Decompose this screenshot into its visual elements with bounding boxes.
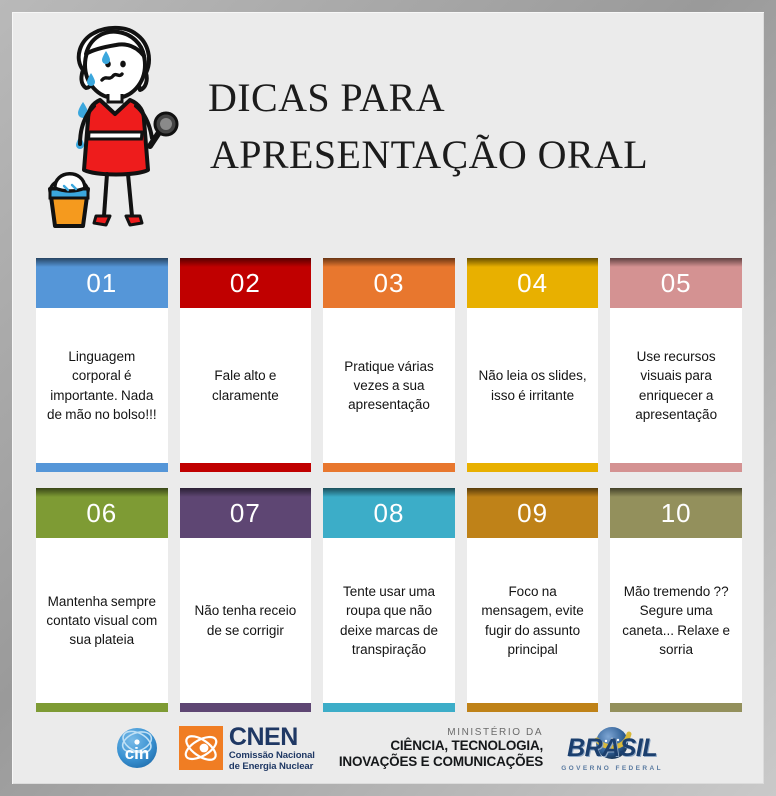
tip-text-07: Não tenha receio de se corrigir [187,601,305,639]
tip-number-03: 03 [323,258,455,308]
tip-accent-bar-07 [180,703,312,712]
footer-logos: cin CNEN Comissão Nacional de Energia Nu… [12,716,764,780]
tip-accent-bar-10 [610,703,742,712]
tip-card-09[interactable]: 09 Foco na mensagem, evite fugir do assu… [467,488,599,712]
tip-accent-bar-01 [36,463,168,472]
tip-text-04: Não leia os slides, isso é irritante [474,366,592,404]
poster-frame: DICAS PARA APRESENTAÇÃO ORAL 01 Linguage… [0,0,776,796]
tip-body-06: Mantenha sempre contato visual com sua p… [36,538,168,703]
cnen-wordmark: CNEN Comissão Nacional de Energia Nuclea… [229,725,315,771]
tip-text-01: Linguagem corporal é importante. Nada de… [43,347,161,424]
cnen-subtitle-line-2: de Energia Nuclear [229,762,315,772]
tip-card-08[interactable]: 08 Tente usar uma roupa que não deixe ma… [323,488,455,712]
tip-number-02: 02 [180,258,312,308]
brasil-subtitle: GOVERNO FEDERAL [557,765,667,772]
ministry-line-2: INOVAÇÕES E COMUNICAÇÕES [339,754,543,769]
brasil-government-logo: BRASIL GOVERNO FEDERAL [557,724,667,772]
tip-accent-bar-06 [36,703,168,712]
tip-text-05: Use recursos visuais para enriquecer a a… [617,347,735,424]
tip-accent-bar-05 [610,463,742,472]
tip-card-01[interactable]: 01 Linguagem corporal é importante. Nada… [36,258,168,472]
cnen-subtitle-line-1: Comissão Nacional [229,751,315,761]
tip-text-08: Tente usar uma roupa que não deixe marca… [330,582,448,659]
cin-logo-icon: cin [109,726,165,770]
tip-number-08: 08 [323,488,455,538]
tip-number-10: 10 [610,488,742,538]
tip-card-05[interactable]: 05 Use recursos visuais para enriquecer … [610,258,742,472]
cnen-logo: CNEN Comissão Nacional de Energia Nuclea… [179,725,315,771]
tip-body-02: Fale alto e claramente [180,308,312,463]
tip-accent-bar-08 [323,703,455,712]
tip-text-10: Mão tremendo ?? Segure uma caneta... Rel… [617,582,735,659]
tip-body-04: Não leia os slides, isso é irritante [467,308,599,463]
tip-accent-bar-03 [323,463,455,472]
tip-text-09: Foco na mensagem, evite fugir do assunto… [474,582,592,659]
cnen-acronym: CNEN [229,725,315,750]
poster-canvas: DICAS PARA APRESENTAÇÃO ORAL 01 Linguage… [12,12,764,784]
cin-logo: cin [109,726,165,770]
tip-text-02: Fale alto e claramente [187,366,305,404]
tip-body-07: Não tenha receio de se corrigir [180,538,312,703]
tip-accent-bar-09 [467,703,599,712]
tip-card-06[interactable]: 06 Mantenha sempre contato visual com su… [36,488,168,712]
tip-body-01: Linguagem corporal é importante. Nada de… [36,308,168,463]
tips-row-1: 01 Linguagem corporal é importante. Nada… [36,258,742,472]
tip-body-03: Pratique várias vezes a sua apresentação [323,308,455,463]
tip-body-09: Foco na mensagem, evite fugir do assunto… [467,538,599,703]
tip-number-01: 01 [36,258,168,308]
tip-card-04[interactable]: 04 Não leia os slides, isso é irritante [467,258,599,472]
tip-number-06: 06 [36,488,168,538]
ministry-wordmark: MINISTÉRIO DA CIÊNCIA, TECNOLOGIA, INOVA… [339,727,543,768]
ministry-label: MINISTÉRIO DA [447,727,543,738]
tips-row-2: 06 Mantenha sempre contato visual com su… [36,488,742,712]
tip-accent-bar-02 [180,463,312,472]
nervous-presenter-illustration [36,18,191,238]
tip-card-03[interactable]: 03 Pratique várias vezes a sua apresenta… [323,258,455,472]
svg-text:cin: cin [125,744,150,763]
cnen-atom-icon [179,726,223,770]
tip-card-02[interactable]: 02 Fale alto e claramente [180,258,312,472]
tip-body-10: Mão tremendo ?? Segure uma caneta... Rel… [610,538,742,703]
tip-card-10[interactable]: 10 Mão tremendo ?? Segure uma caneta... … [610,488,742,712]
tip-number-04: 04 [467,258,599,308]
tip-card-07[interactable]: 07 Não tenha receio de se corrigir [180,488,312,712]
tip-text-06: Mantenha sempre contato visual com sua p… [43,592,161,649]
tip-number-07: 07 [180,488,312,538]
tip-accent-bar-04 [467,463,599,472]
tip-number-05: 05 [610,258,742,308]
tip-text-03: Pratique várias vezes a sua apresentação [330,357,448,414]
ministry-line-1: CIÊNCIA, TECNOLOGIA, [390,738,543,753]
tip-number-09: 09 [467,488,599,538]
title-line-2: APRESENTAÇÃO ORAL [208,127,748,184]
page-title: DICAS PARA APRESENTAÇÃO ORAL [208,70,748,184]
title-line-1: DICAS PARA [208,70,748,127]
brasil-wordmark: BRASIL [557,734,667,763]
tip-body-05: Use recursos visuais para enriquecer a a… [610,308,742,463]
tip-body-08: Tente usar uma roupa que não deixe marca… [323,538,455,703]
poster-header: DICAS PARA APRESENTAÇÃO ORAL [12,12,764,244]
